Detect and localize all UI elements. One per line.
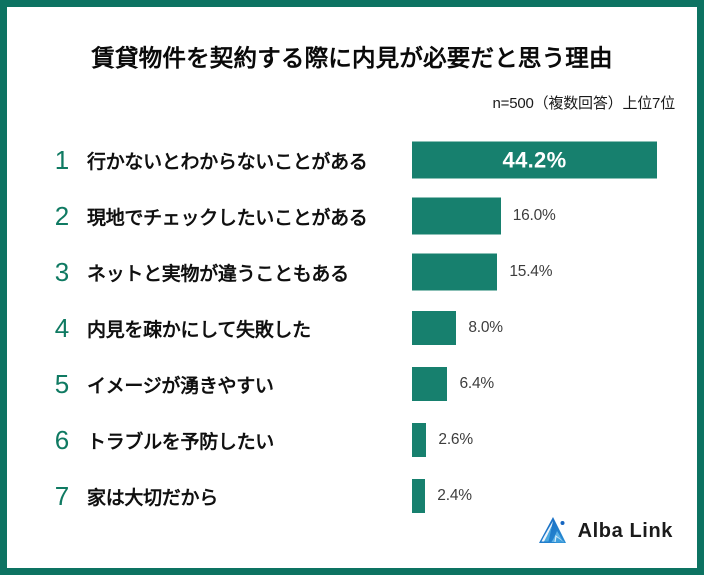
rank-number: 2 (47, 203, 77, 229)
rank-number: 4 (47, 315, 77, 341)
bar (412, 479, 425, 513)
ranking-row: 5イメージが湧きやすい6.4% (7, 356, 697, 412)
bar (412, 423, 426, 457)
bar-area: 6.4% (412, 356, 697, 412)
bar: 44.2% (412, 142, 657, 179)
bar-area: 8.0% (412, 300, 697, 356)
rank-number: 1 (47, 147, 77, 173)
bar-value-label: 2.6% (438, 431, 473, 449)
ranking-row-label: 家は大切だから (87, 483, 218, 510)
bar-area: 2.6% (412, 412, 697, 468)
ranking-row: 3ネットと実物が違うこともある15.4% (7, 244, 697, 300)
ranking-row-label: 内見を疎かにして失敗した (87, 315, 311, 342)
bar (412, 311, 456, 345)
bar (412, 367, 447, 401)
ranking-row-label: 現地でチェックしたいことがある (87, 203, 368, 230)
ranking-row-label: トラブルを予防したい (87, 427, 274, 454)
rank-number: 5 (47, 371, 77, 397)
sample-size-note: n=500（複数回答）上位7位 (493, 92, 675, 113)
page-title: 賃貸物件を契約する際に内見が必要だと思う理由 (7, 39, 697, 73)
ranking-row: 4内見を疎かにして失敗した8.0% (7, 300, 697, 356)
ranking-row-label: ネットと実物が違うこともある (87, 259, 349, 286)
bar-value-label: 2.4% (437, 487, 472, 505)
bar-area: 15.4% (412, 244, 697, 300)
bar (412, 198, 501, 235)
brand-logo: Alba Link (536, 516, 673, 546)
ranking-row-label: 行かないとわからないことがある (87, 147, 368, 174)
bar-value-label: 16.0% (513, 207, 556, 225)
bar-area: 16.0% (412, 188, 697, 244)
bar (412, 254, 497, 291)
infographic-card: 賃貸物件を契約する際に内見が必要だと思う理由 n=500（複数回答）上位7位 1… (0, 0, 704, 575)
rank-number: 3 (47, 259, 77, 285)
bar-value-label: 15.4% (509, 263, 552, 281)
bar-area: 44.2% (412, 132, 697, 188)
bar-value-label: 6.4% (459, 375, 494, 393)
ranking-row: 1行かないとわからないことがある44.2% (7, 132, 697, 188)
rank-number: 6 (47, 427, 77, 453)
rank-number: 7 (47, 483, 77, 509)
alba-link-mountain-icon (536, 516, 570, 546)
ranking-row: 2現地でチェックしたいことがある16.0% (7, 188, 697, 244)
brand-name: Alba Link (578, 521, 673, 541)
ranking-list: 1行かないとわからないことがある44.2%2現地でチェックしたいことがある16.… (7, 132, 697, 524)
ranking-row: 6トラブルを予防したい2.6% (7, 412, 697, 468)
ranking-row-label: イメージが湧きやすい (87, 371, 274, 398)
bar-value-label: 8.0% (468, 319, 503, 337)
infographic-inner: 賃貸物件を契約する際に内見が必要だと思う理由 n=500（複数回答）上位7位 1… (7, 7, 697, 568)
bar-value-label: 44.2% (503, 147, 567, 173)
